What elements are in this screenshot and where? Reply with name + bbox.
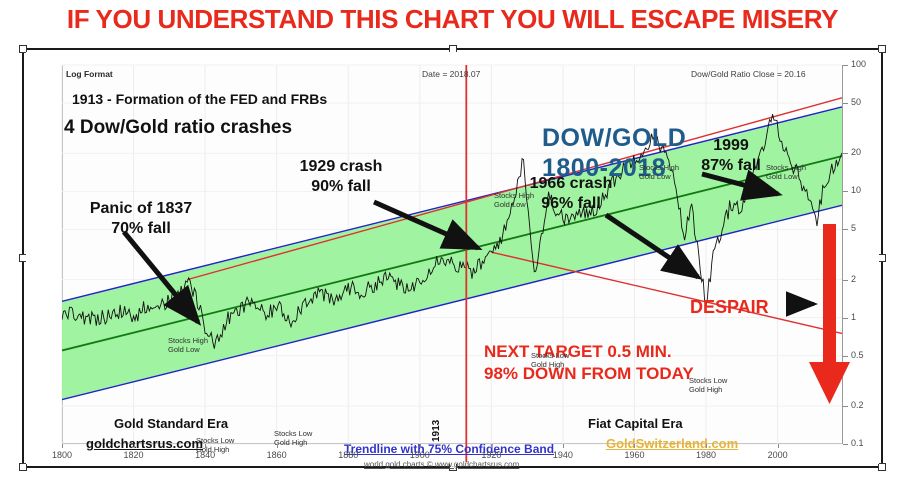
x-tickmark <box>62 444 63 448</box>
x-tick-label-1840: 1840 <box>195 450 215 460</box>
trendline <box>62 156 842 350</box>
fed-annotation: 1913 - Formation of the FED and FRBs <box>72 92 327 108</box>
event-label-line2: Gold High <box>274 439 312 448</box>
y-tick-label-100: 100 <box>851 59 866 69</box>
event-label-line2: Gold Low <box>639 173 679 182</box>
y-tickmark <box>843 444 848 445</box>
y-tickmark <box>843 191 848 192</box>
y-tickmark <box>843 280 848 281</box>
y-tickmark <box>843 318 848 319</box>
x-tick-label-2000: 2000 <box>768 450 788 460</box>
crash-1929-line2: 90% fall <box>266 178 416 196</box>
x-tickmark <box>491 444 492 448</box>
next-target-line1: NEXT TARGET 0.5 MIN. <box>484 342 672 362</box>
date-note: Date = 2018.07 <box>422 69 480 79</box>
y-tickmark <box>843 153 848 154</box>
page-headline: IF YOU UNDERSTAND THIS CHART YOU WILL ES… <box>0 4 905 35</box>
goldswitzerland-link[interactable]: GoldSwitzerland.com <box>606 436 738 451</box>
event-label-line2: Gold High <box>689 386 727 395</box>
crash-1929-line1: 1929 crash <box>266 158 416 176</box>
chart-card: Log Format Date = 2018.07 Dow/Gold Ratio… <box>26 52 879 464</box>
y-tick-label-50: 50 <box>851 97 861 107</box>
x-tickmark <box>420 444 421 448</box>
target-down-arrow <box>809 224 850 404</box>
event-label-shgl-1840: Stocks HighGold Low <box>168 337 208 355</box>
x-tick-label-1880: 1880 <box>338 450 358 460</box>
y-tick-label-2: 2 <box>851 274 856 284</box>
y-tick-label-1: 1 <box>851 312 856 322</box>
event-label-line2: Gold Low <box>168 346 208 355</box>
x-tick-label-1820: 1820 <box>124 450 144 460</box>
x-tickmark <box>706 444 707 448</box>
event-label-line2: Gold Low <box>494 201 534 210</box>
x-tickmark <box>778 444 779 448</box>
x-tickmark <box>634 444 635 448</box>
resize-handle-bl[interactable] <box>19 463 27 471</box>
y-tickmark <box>843 356 848 357</box>
gold-standard-era-label: Gold Standard Era <box>114 416 228 431</box>
resize-handle-mr[interactable] <box>878 254 886 262</box>
x-tickmark <box>277 444 278 448</box>
x-tick-label-1920: 1920 <box>481 450 501 460</box>
y-tick-label-0.2: 0.2 <box>851 400 864 410</box>
y-tick-label-5: 5 <box>851 223 856 233</box>
x-tickmark <box>348 444 349 448</box>
goldchartsrus-link[interactable]: goldchartsrus.com <box>86 436 203 451</box>
chart-screenshot: IF YOU UNDERSTAND THIS CHART YOU WILL ES… <box>0 0 905 480</box>
event-label-shgl-1929: Stocks HighGold Low <box>494 192 534 210</box>
x-tickmark <box>563 444 564 448</box>
x-tick-label-1800: 1800 <box>52 450 72 460</box>
event-label-line2: Gold Low <box>766 173 806 182</box>
crash-1999-line1: 1999 <box>676 137 786 155</box>
chart-title-line1: DOW/GOLD <box>542 124 686 153</box>
panic-1837-line1: Panic of 1837 <box>46 200 236 218</box>
event-label-slgh-2011: Stocks LowGold High <box>689 377 727 395</box>
y-tick-label-0.5: 0.5 <box>851 350 864 360</box>
resize-handle-br[interactable] <box>878 463 886 471</box>
x-tickmark <box>205 444 206 448</box>
event-label-shgl-1966: Stocks HighGold Low <box>639 164 679 182</box>
trendline-note: Trendline with 75% Confidence Band <box>344 442 554 456</box>
log-format-note: Log Format <box>66 69 113 79</box>
x-tick-label-1940: 1940 <box>553 450 573 460</box>
y-tick-label-20: 20 <box>851 147 861 157</box>
x-tick-label-1900: 1900 <box>410 450 430 460</box>
y-tickmark <box>843 229 848 230</box>
y-tickmark <box>843 103 848 104</box>
panic-1837-line2: 70% fall <box>46 220 236 238</box>
x-tick-label-1980: 1980 <box>696 450 716 460</box>
y-tick-label-0.1: 0.1 <box>851 438 864 448</box>
y-tickmark <box>843 406 848 407</box>
source-footer: world gold charts © www.goldchartsrus.co… <box>364 460 519 469</box>
event-label-slgh-1980: Stocks LowGold High <box>531 352 569 370</box>
resize-handle-tr[interactable] <box>878 45 886 53</box>
y-tickmark <box>843 65 848 66</box>
despair-label: DESPAIR <box>690 297 769 318</box>
x-tick-label-1960: 1960 <box>624 450 644 460</box>
next-target-line2: 98% DOWN FROM TODAY <box>484 364 694 384</box>
x-tickmark <box>134 444 135 448</box>
close-note: Dow/Gold Ratio Close = 20.16 <box>691 69 806 79</box>
event-label-slgh-1860: Stocks LowGold High <box>274 430 312 448</box>
crashes-annotation: 4 Dow/Gold ratio crashes <box>64 117 292 138</box>
event-label-line2: Gold High <box>531 361 569 370</box>
fiat-capital-era-label: Fiat Capital Era <box>588 416 683 431</box>
red-channel-lower <box>491 252 842 333</box>
y-tick-label-10: 10 <box>851 185 861 195</box>
year-1913-label: 1913 <box>431 420 442 442</box>
chart-graphics <box>26 52 879 464</box>
x-tick-label-1860: 1860 <box>267 450 287 460</box>
event-label-shgl-1999: Stocks HighGold Low <box>766 164 806 182</box>
